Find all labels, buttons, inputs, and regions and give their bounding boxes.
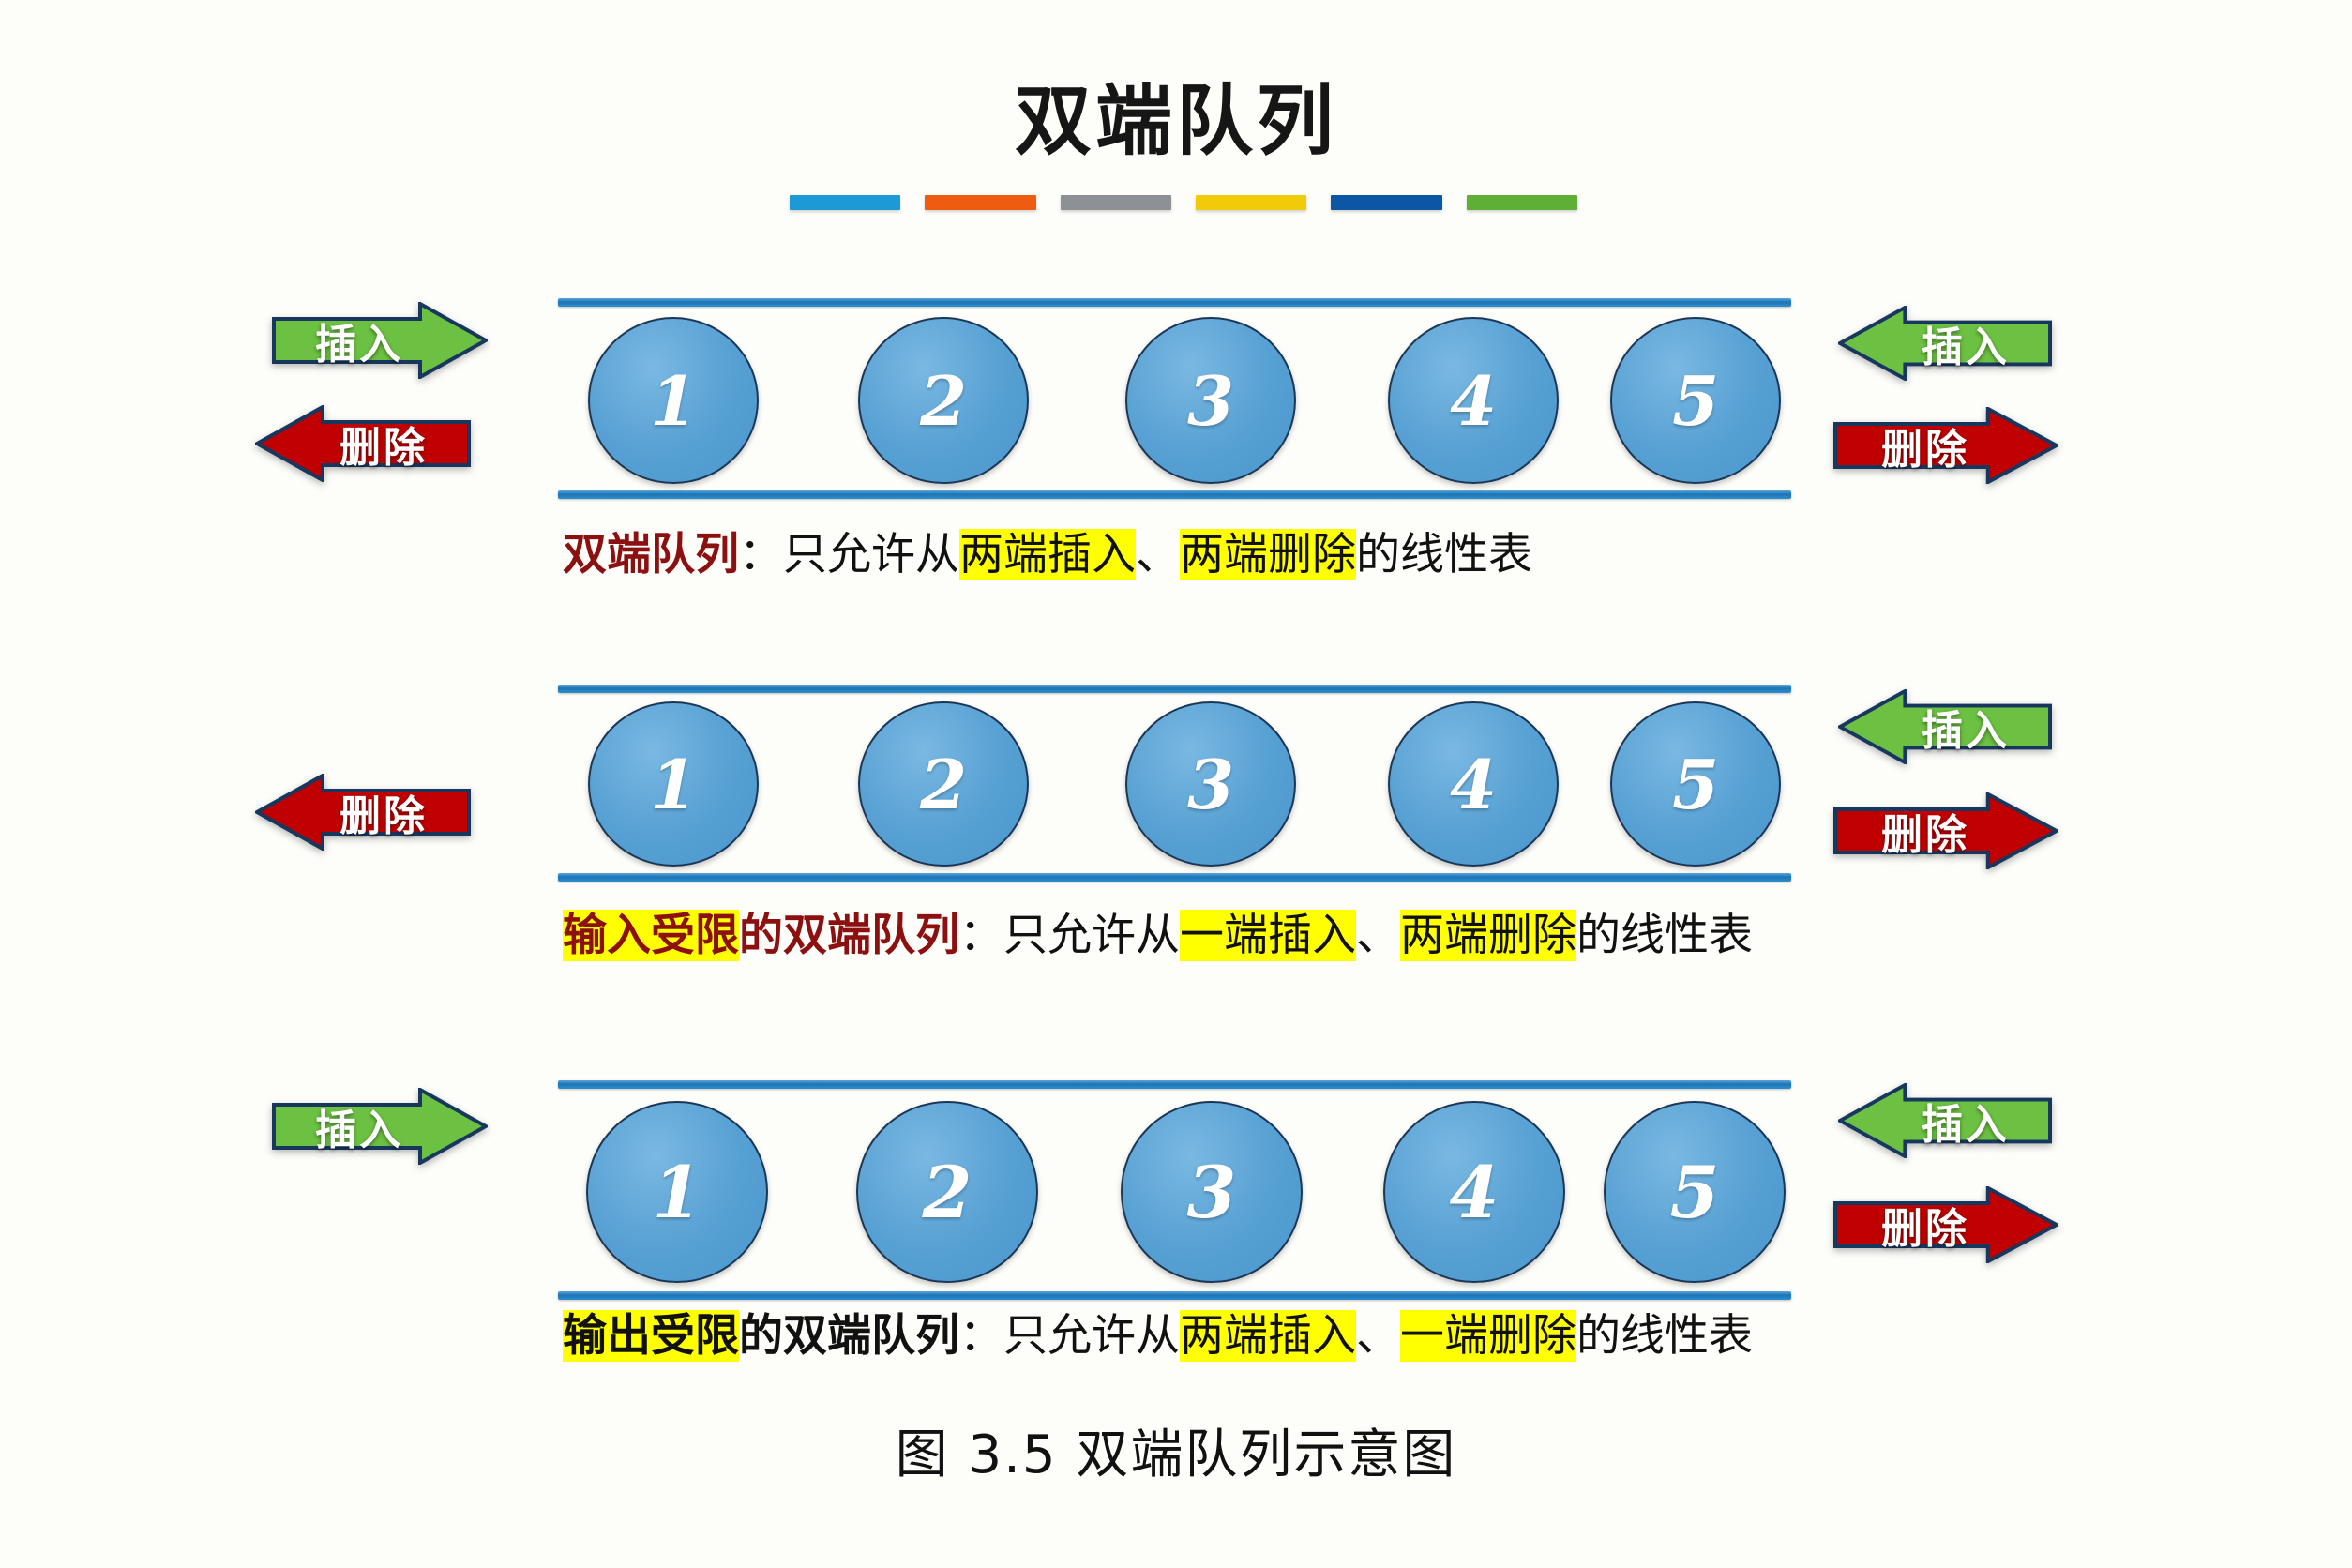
right-insert-arrow-row3[interactable]: 插入 (1838, 1083, 2052, 1158)
queue-cell: 2 (856, 1101, 1038, 1283)
queue-cell: 4 (1388, 701, 1559, 867)
queue-cell: 1 (586, 1101, 768, 1283)
arrow-label: 删除 (1833, 415, 2058, 475)
cell-value: 2 (923, 1151, 972, 1234)
left-delete-arrow-row2[interactable]: 删除 (255, 774, 471, 851)
left-delete-arrow-row1[interactable]: 删除 (255, 405, 471, 482)
caption-highlight-2: 两端删除 (1400, 910, 1576, 961)
caption-highlight-2: 一端删除 (1400, 1310, 1576, 1362)
cell-value: 1 (650, 745, 697, 824)
queue-cell: 4 (1388, 317, 1559, 484)
caption-sep: 、 (1136, 529, 1180, 580)
caption-mid: ：只允许从 (959, 910, 1180, 961)
cell-value: 1 (653, 1151, 702, 1234)
cell-value: 3 (1187, 361, 1234, 441)
accent-bar-segment-1 (790, 195, 900, 210)
cell-value: 4 (1450, 1151, 1500, 1234)
slide-canvas: 双端队列 插入 删除 1 (0, 0, 2352, 1568)
left-insert-arrow-row3[interactable]: 插入 (272, 1088, 488, 1165)
arrow-label: 插入 (1838, 697, 2052, 757)
cell-value: 4 (1450, 745, 1497, 824)
caption-highlight-1: 一端插入 (1180, 910, 1356, 961)
accent-bar-segment-6 (1467, 195, 1577, 210)
row-caption-2: 输入受限的双端队列：只允许从一端插入、两端删除的线性表 (563, 898, 1753, 963)
cell-value: 3 (1187, 1151, 1237, 1234)
caption-tail: 的线性表 (1576, 910, 1753, 961)
caption-prefix-highlight: 输入受限 (563, 910, 739, 961)
left-insert-arrow-row1[interactable]: 插入 (272, 302, 488, 379)
cell-value: 5 (1672, 361, 1719, 441)
caption-highlight-1: 两端插入 (959, 529, 1136, 580)
arrow-label: 插入 (272, 1096, 488, 1156)
arrow-label: 删除 (255, 782, 471, 842)
accent-bar-segment-3 (1061, 195, 1171, 210)
row-caption-3: 输出受限的双端队列：只允许从两端插入、一端删除的线性表 (563, 1299, 1753, 1364)
queue-track-row1: 1 2 3 4 5 (558, 298, 1791, 499)
queue-cell: 2 (858, 701, 1029, 867)
queue-cell: 2 (858, 317, 1029, 484)
caption-highlight-1: 两端插入 (1180, 1310, 1356, 1362)
cell-value: 3 (1187, 745, 1234, 824)
caption-mid: ：只允许从 (959, 1310, 1180, 1362)
cell-value: 5 (1672, 745, 1719, 824)
caption-prefix-highlight: 输出受限 (563, 1310, 739, 1362)
right-delete-arrow-row3[interactable]: 删除 (1833, 1186, 2058, 1263)
figure-caption: 图 3.5 双端队列示意图 (0, 1412, 2352, 1488)
caption-term: 的双端队列 (739, 910, 959, 961)
queue-track-row2: 1 2 3 4 5 (558, 685, 1791, 882)
cell-value: 4 (1450, 361, 1497, 441)
arrow-label: 插入 (272, 310, 488, 370)
right-delete-arrow-row2[interactable]: 删除 (1833, 792, 2058, 869)
cell-value: 1 (650, 361, 697, 441)
arrow-label: 删除 (1833, 801, 2058, 861)
queue-cell: 1 (588, 317, 759, 484)
right-insert-arrow-row1[interactable]: 插入 (1838, 306, 2052, 381)
row-caption-1: 双端队列：只允许从两端插入、两端删除的线性表 (563, 518, 1532, 582)
accent-color-bar (790, 195, 1577, 210)
queue-cell: 1 (588, 701, 759, 867)
caption-highlight-2: 两端删除 (1180, 529, 1356, 580)
arrow-label: 插入 (1838, 1091, 2052, 1151)
arrow-label: 删除 (255, 414, 471, 474)
caption-tail: 的线性表 (1576, 1310, 1753, 1362)
accent-bar-segment-4 (1196, 195, 1306, 210)
queue-cell: 5 (1610, 701, 1781, 867)
caption-tail: 的线性表 (1356, 529, 1532, 580)
right-insert-arrow-row2[interactable]: 插入 (1838, 689, 2052, 764)
queue-cell: 5 (1604, 1101, 1786, 1283)
caption-term: 的双端队列 (739, 1310, 959, 1362)
right-delete-arrow-row1[interactable]: 删除 (1833, 407, 2058, 484)
accent-bar-segment-2 (925, 195, 1035, 210)
cell-value: 2 (920, 745, 967, 824)
caption-term: 双端队列 (563, 529, 739, 580)
queue-cell: 3 (1125, 701, 1296, 867)
accent-bar-segment-5 (1331, 195, 1441, 210)
caption-mid: ：只允许从 (739, 529, 959, 580)
arrow-label: 删除 (1833, 1195, 2058, 1255)
caption-sep: 、 (1356, 1310, 1400, 1362)
queue-cell: 5 (1610, 317, 1781, 484)
queue-cell: 3 (1121, 1101, 1303, 1283)
arrow-label: 插入 (1838, 313, 2052, 373)
caption-sep: 、 (1356, 910, 1400, 961)
cell-value: 2 (920, 361, 967, 441)
queue-cell: 3 (1125, 317, 1296, 484)
queue-cell: 4 (1383, 1101, 1565, 1283)
cell-value: 5 (1670, 1151, 1720, 1234)
queue-track-row3: 1 2 3 4 5 (558, 1080, 1791, 1300)
page-title: 双端队列 (0, 58, 2352, 170)
